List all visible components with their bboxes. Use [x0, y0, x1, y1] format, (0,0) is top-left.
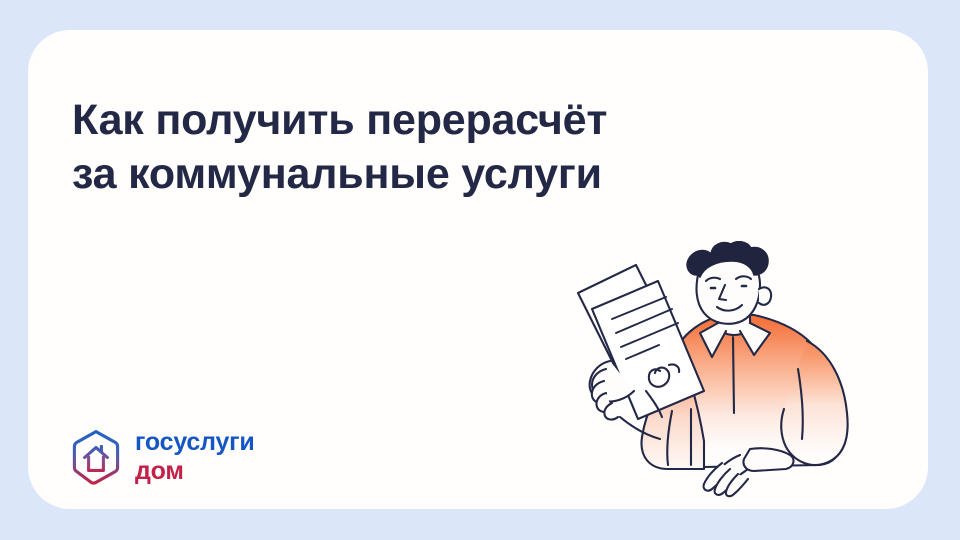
- brand-wordmark: госуслуги дом: [135, 430, 255, 484]
- house-in-hexagon-icon: [70, 429, 122, 485]
- slide-root: Как получить перерасчёт за коммунальные …: [0, 0, 960, 540]
- page-title: Как получить перерасчёт за коммунальные …: [72, 93, 732, 202]
- brand-wordmark-gosuslugi: госуслуги: [135, 430, 255, 455]
- brand-logo[interactable]: госуслуги дом: [70, 429, 255, 485]
- man-holding-documents-illustration: [554, 241, 906, 503]
- content-card: Как получить перерасчёт за коммунальные …: [28, 30, 928, 509]
- brand-wordmark-dom: дом: [135, 459, 255, 484]
